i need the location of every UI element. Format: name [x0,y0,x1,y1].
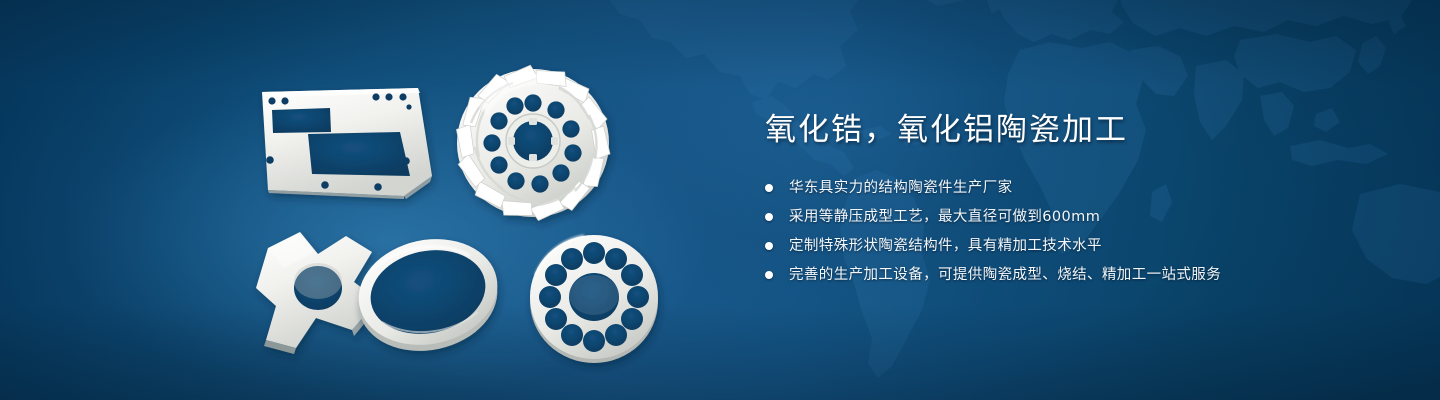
hero-banner: 氧化锆，氧化铝陶瓷加工 华东具实力的结构陶瓷件生产厂家 采用等静压成型工艺，最大… [0,0,1440,400]
list-item: 完善的生产加工设备，可提供陶瓷成型、烧结、精加工一站式服务 [765,264,1385,286]
bullet-dot-icon [765,242,773,250]
bullet-dot-icon [765,213,773,221]
bullet-dot-icon [765,271,773,279]
page-title: 氧化锆，氧化铝陶瓷加工 [765,108,1385,152]
list-item-label: 完善的生产加工设备，可提供陶瓷成型、烧结、精加工一站式服务 [789,267,1221,283]
banner-copy: 氧化锆，氧化铝陶瓷加工 华东具实力的结构陶瓷件生产厂家 采用等静压成型工艺，最大… [765,108,1385,286]
feature-list: 华东具实力的结构陶瓷件生产厂家 采用等静压成型工艺，最大直径可做到600mm 定… [765,177,1385,286]
list-item: 华东具实力的结构陶瓷件生产厂家 [765,177,1385,199]
list-item: 定制特殊形状陶瓷结构件，具有精加工技术水平 [765,235,1385,257]
bullet-dot-icon [765,184,773,192]
list-item-label: 华东具实力的结构陶瓷件生产厂家 [789,180,1013,196]
list-item-label: 定制特殊形状陶瓷结构件，具有精加工技术水平 [789,238,1102,254]
list-item-label: 采用等静压成型工艺，最大直径可做到600mm [789,209,1100,225]
list-item: 采用等静压成型工艺，最大直径可做到600mm [765,206,1385,228]
